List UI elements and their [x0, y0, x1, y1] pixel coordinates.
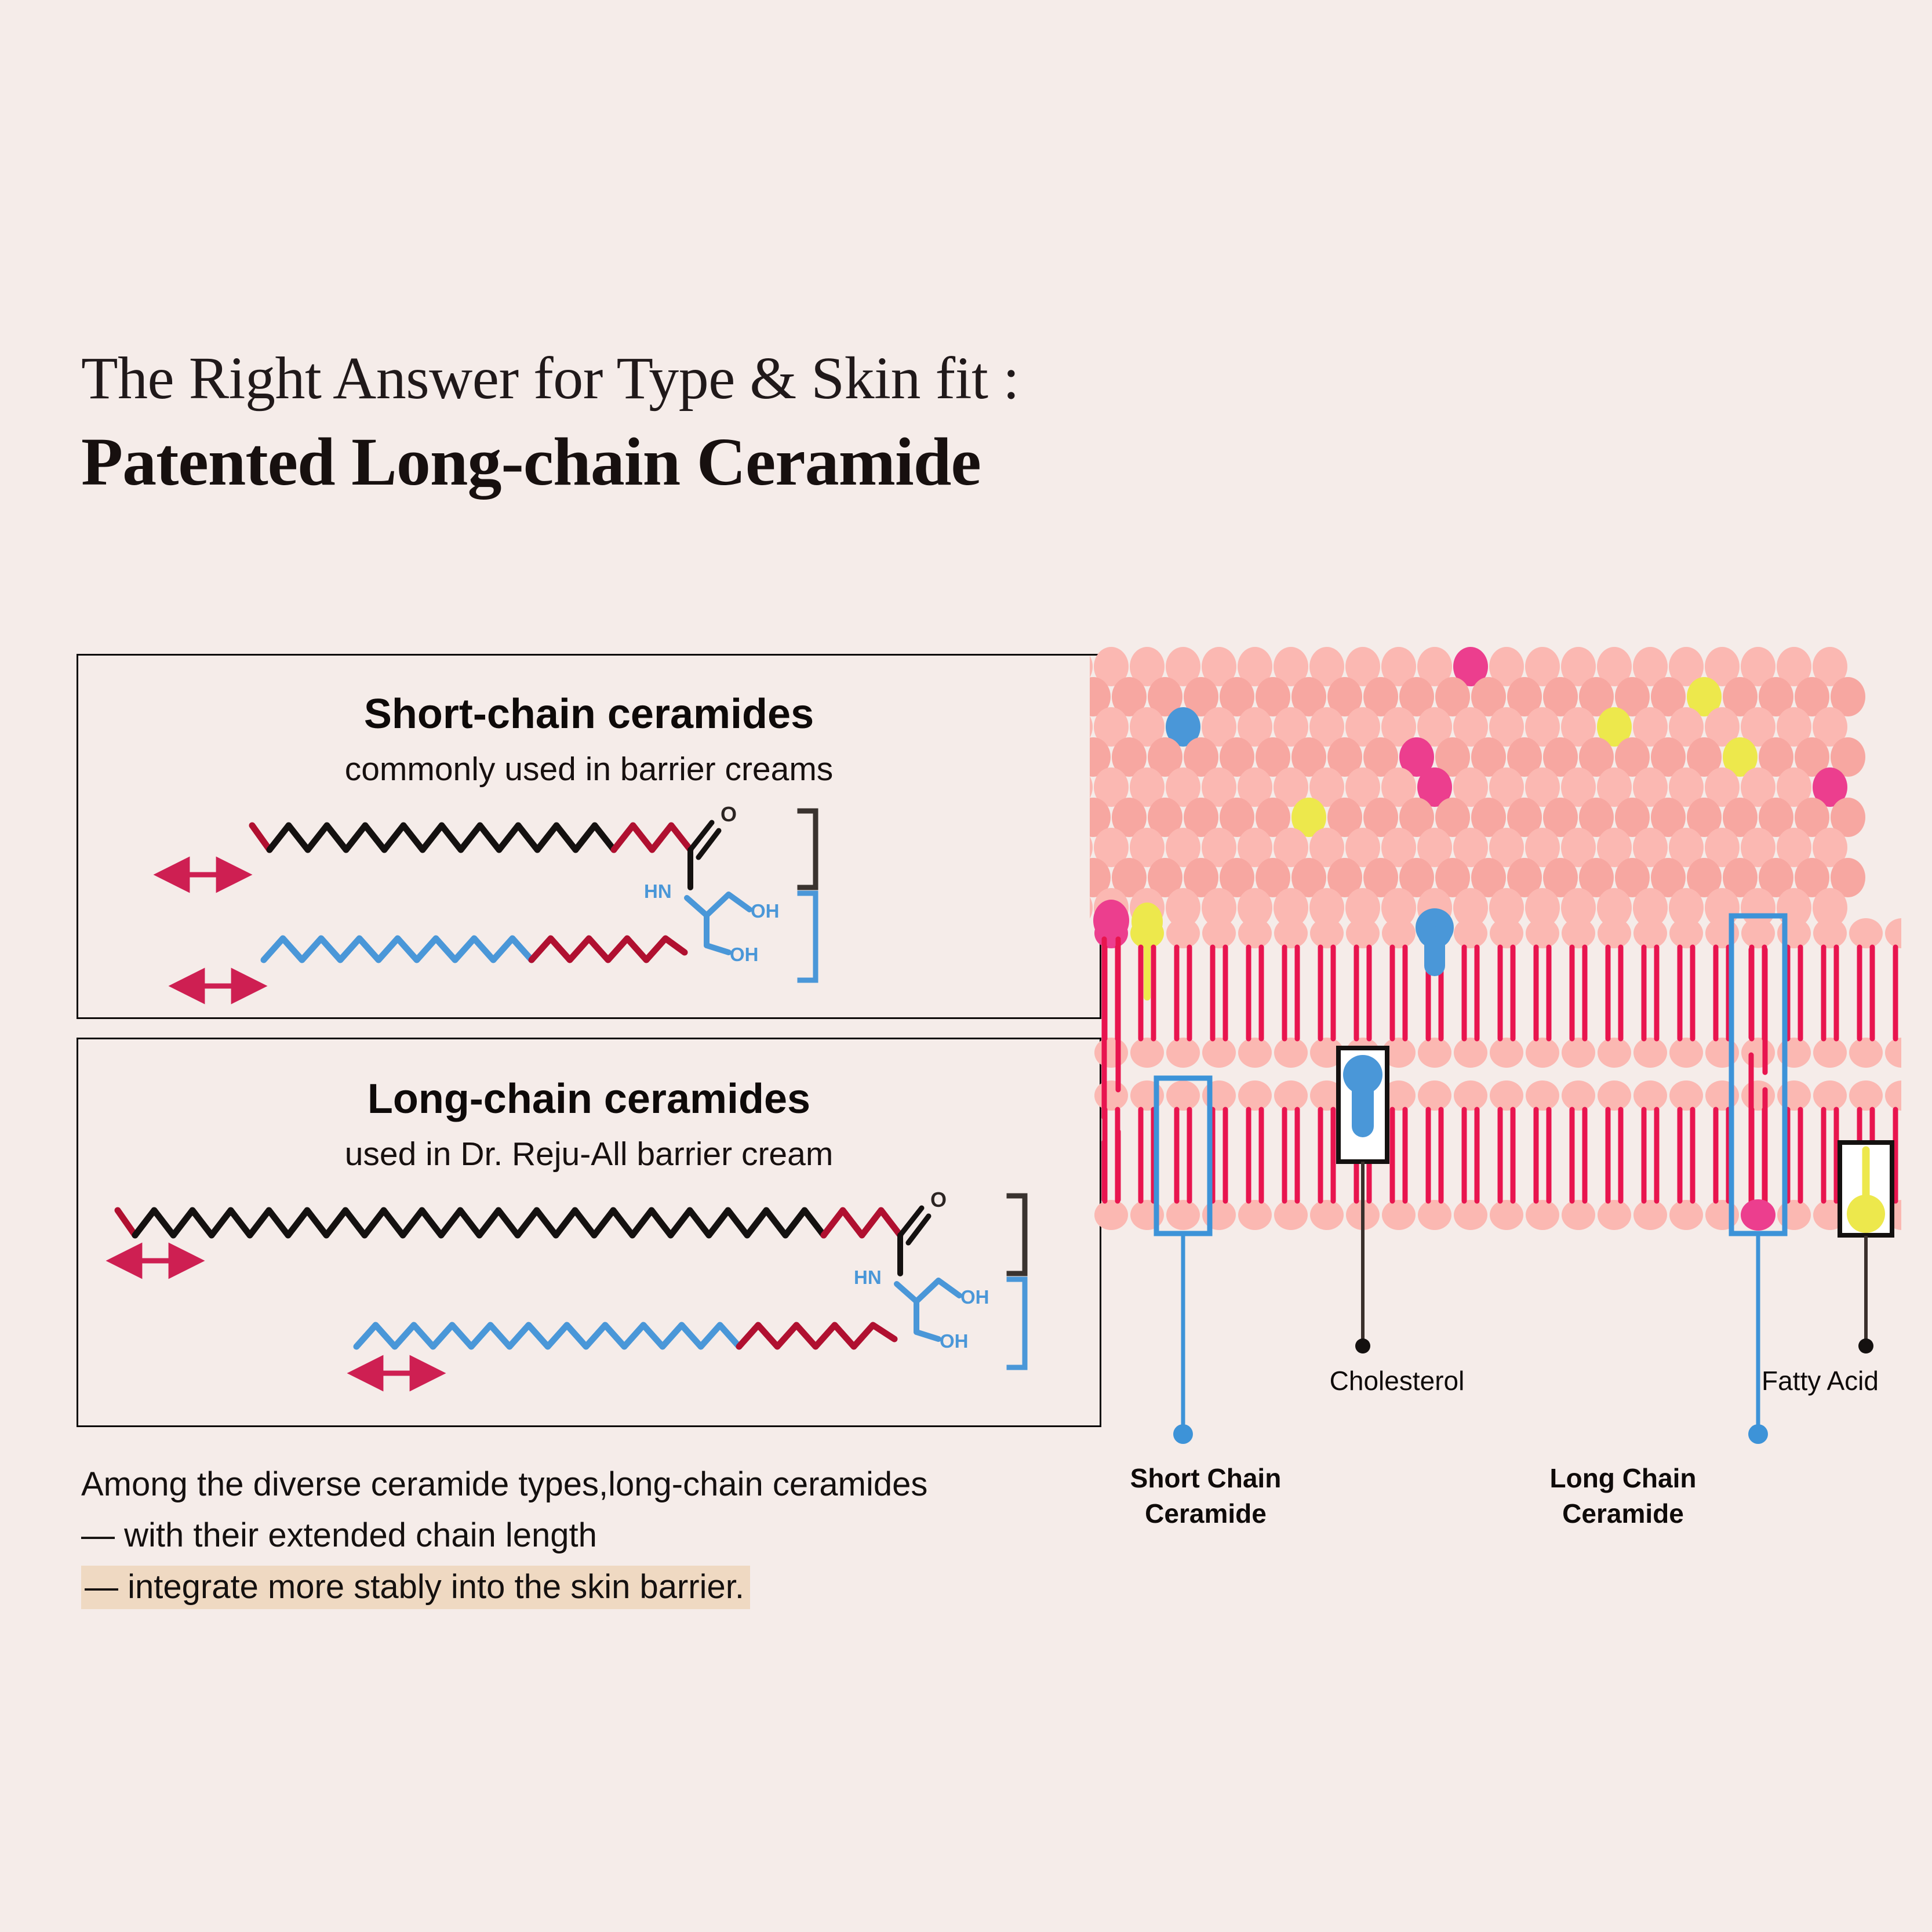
- acyl-chain-black-zigzag: [135, 1210, 824, 1235]
- lipid-head: [1166, 918, 1200, 948]
- cholesterol-body: [1352, 1072, 1374, 1137]
- lipid-head: [1454, 918, 1487, 948]
- lipid-head: [1130, 1038, 1164, 1068]
- page-title: The Right Answer for Type & Skin fit : P…: [81, 347, 1356, 498]
- lipid-head: [1310, 1200, 1344, 1230]
- lipid-head: [1166, 1038, 1200, 1068]
- legend-long-chain-line2: Ceramide: [1519, 1496, 1727, 1531]
- acyl-bracket: [800, 811, 816, 887]
- lipid-head: [1598, 1038, 1631, 1068]
- lipid-head: [1633, 1200, 1667, 1230]
- lipid-head: [1094, 1200, 1128, 1230]
- lipid-head: [1274, 1038, 1308, 1068]
- hydroxyl-label-1: OH: [960, 1286, 989, 1308]
- summary-paragraph: Among the diverse ceramide types,long-ch…: [81, 1461, 1125, 1614]
- lipid-head: [1598, 1080, 1631, 1111]
- lipid-head: [1238, 918, 1272, 948]
- lipid-head: [1454, 1080, 1487, 1111]
- lipid-head: [1885, 1080, 1901, 1111]
- lipid-bilayer-diagram: [1090, 632, 1901, 1548]
- lipid-head: [1094, 1038, 1128, 1068]
- lipid-head: [1490, 1200, 1523, 1230]
- paragraph-line-2: — with their extended chain length: [81, 1512, 1125, 1559]
- lipid-head: [1885, 1038, 1901, 1068]
- amide-nitrogen-label: HN: [854, 1267, 882, 1288]
- lipid-head: [1346, 918, 1380, 948]
- sphingoid-bracket: [800, 893, 816, 980]
- lipid-head: [1526, 1038, 1559, 1068]
- short-chain-panel: Short-chain ceramides commonly used in b…: [77, 654, 1101, 1019]
- lipid-head: [1094, 1080, 1128, 1111]
- lipid-head: [1166, 1080, 1200, 1111]
- legend-long-chain-ceramide: Long Chain Ceramide: [1519, 1461, 1727, 1531]
- long-chain-ceramide-head: [1741, 1199, 1775, 1231]
- legend-fatty-acid: Fatty Acid: [1710, 1365, 1930, 1396]
- hydroxyl-label-2: OH: [940, 1330, 969, 1352]
- secondary-hydroxyl-bond: [916, 1332, 938, 1339]
- lipid-head: [1633, 1080, 1667, 1111]
- lipid-head: [1274, 918, 1308, 948]
- long-chain-callout-dot: [1748, 1424, 1768, 1444]
- lipid-head: [1849, 918, 1883, 948]
- lipid-head: [1526, 918, 1559, 948]
- long-chain-molecule-diagram: O HN OH OH: [78, 1039, 1103, 1429]
- long-chain-ceramide-highlight-box: [1731, 916, 1785, 1234]
- carbonyl-oxygen-label: O: [721, 802, 737, 826]
- hydroxyl-label-1: OH: [751, 900, 780, 922]
- lipid-head: [1490, 918, 1523, 948]
- lipid-head: [1238, 1038, 1272, 1068]
- lipid-head: [1633, 1038, 1667, 1068]
- paragraph-line-3-highlighted: — integrate more stably into the skin ba…: [81, 1566, 750, 1609]
- carbonyl-oxygen-label: O: [930, 1188, 947, 1211]
- headline-line-1: The Right Answer for Type & Skin fit :: [81, 347, 1356, 410]
- lipid-head: [1310, 918, 1344, 948]
- lipid-head: [1669, 1200, 1703, 1230]
- lipid-head: [1274, 1080, 1308, 1111]
- amide-nitrogen-label: HN: [644, 881, 672, 902]
- lipid-head: [1454, 1038, 1487, 1068]
- lipid-head: [1813, 918, 1847, 948]
- hydroxyl-label-2: OH: [730, 944, 759, 965]
- cholesterol-callout-dot: [1355, 1338, 1370, 1354]
- lipid-head: [1562, 1200, 1595, 1230]
- lipid-head: [1526, 1200, 1559, 1230]
- fatty-acid-callout-dot: [1858, 1338, 1873, 1354]
- acyl-chain-black-zigzag: [270, 825, 614, 850]
- lipid-head: [1562, 918, 1595, 948]
- lipid-head: [1418, 1200, 1451, 1230]
- legend-short-chain-ceramide: Short Chain Ceramide: [1101, 1461, 1310, 1531]
- lipid-head: [1202, 918, 1236, 948]
- lipid-head: [1454, 1200, 1487, 1230]
- legend-cholesterol: Cholesterol: [1275, 1365, 1519, 1396]
- lipid-head: [1633, 918, 1667, 948]
- long-chain-panel: Long-chain ceramides used in Dr. Reju-Al…: [77, 1038, 1101, 1427]
- lipid-head: [1418, 1080, 1451, 1111]
- paragraph-line-1: Among the diverse ceramide types,long-ch…: [81, 1461, 1125, 1508]
- infographic-canvas: The Right Answer for Type & Skin fit : P…: [0, 0, 1932, 1932]
- sphingoid-chain-blue-zigzag: [356, 1325, 739, 1347]
- sphingoid-chain-crimson-tail: [532, 938, 685, 960]
- lipid-head: [1741, 918, 1775, 948]
- acyl-chain-lead-segment: [252, 825, 270, 850]
- primary-hydroxyl-bond: [916, 1280, 959, 1301]
- lipid-head: [1526, 1080, 1559, 1111]
- acyl-bracket: [1009, 1196, 1025, 1274]
- cholesterol-body: [1424, 926, 1445, 976]
- acyl-chain-crimson-tail: [614, 825, 690, 850]
- sphingoid-bracket: [1009, 1279, 1025, 1367]
- lipid-head: [1490, 1038, 1523, 1068]
- lipid-head: [1741, 1080, 1775, 1111]
- lipid-head: [1669, 1038, 1703, 1068]
- lipid-head: [1849, 1080, 1883, 1111]
- short-chain-callout-dot: [1173, 1424, 1193, 1444]
- lipid-head: [1598, 918, 1631, 948]
- sphingoid-chain-blue-zigzag: [264, 938, 532, 960]
- lipid-head: [1598, 1200, 1631, 1230]
- fatty-acid-head: [1847, 1195, 1885, 1233]
- lipid-head: [1741, 1038, 1775, 1068]
- lipid-head: [1382, 918, 1416, 948]
- lipid-head: [1849, 1038, 1883, 1068]
- legend-short-chain-line2: Ceramide: [1101, 1496, 1310, 1531]
- acyl-chain-crimson-tail: [824, 1210, 900, 1235]
- acyl-chain-lead-segment: [118, 1210, 135, 1235]
- primary-hydroxyl-bond: [707, 894, 749, 915]
- short-chain-molecule-diagram: O HN OH OH: [78, 656, 1103, 1021]
- lipid-head: [1238, 1080, 1272, 1111]
- lipid-head: [1813, 1038, 1847, 1068]
- secondary-hydroxyl-bond: [707, 945, 729, 952]
- legend-short-chain-line1: Short Chain: [1101, 1461, 1310, 1496]
- lipid-head: [1238, 1200, 1272, 1230]
- lipid-head: [1885, 918, 1901, 948]
- lipid-head: [1669, 918, 1703, 948]
- lipid-head: [1382, 1200, 1416, 1230]
- lipid-head: [1202, 1038, 1236, 1068]
- lipid-head: [1274, 1200, 1308, 1230]
- sphingoid-chain-crimson-tail: [739, 1325, 894, 1347]
- sphingoid-backbone: [687, 898, 707, 945]
- headline-line-2: Patented Long-chain Ceramide: [81, 425, 1356, 498]
- sphingoid-backbone: [897, 1284, 916, 1332]
- lipid-head: [1813, 1080, 1847, 1111]
- lipid-head: [1490, 1080, 1523, 1111]
- long-ceramide-head: [1093, 900, 1129, 941]
- lipid-head: [1562, 1038, 1595, 1068]
- lipid-head: [1418, 1038, 1451, 1068]
- lipid-head: [1669, 1080, 1703, 1111]
- lipid-head: [1166, 1200, 1200, 1230]
- lipid-head: [1562, 1080, 1595, 1111]
- legend-long-chain-line1: Long Chain: [1519, 1461, 1727, 1496]
